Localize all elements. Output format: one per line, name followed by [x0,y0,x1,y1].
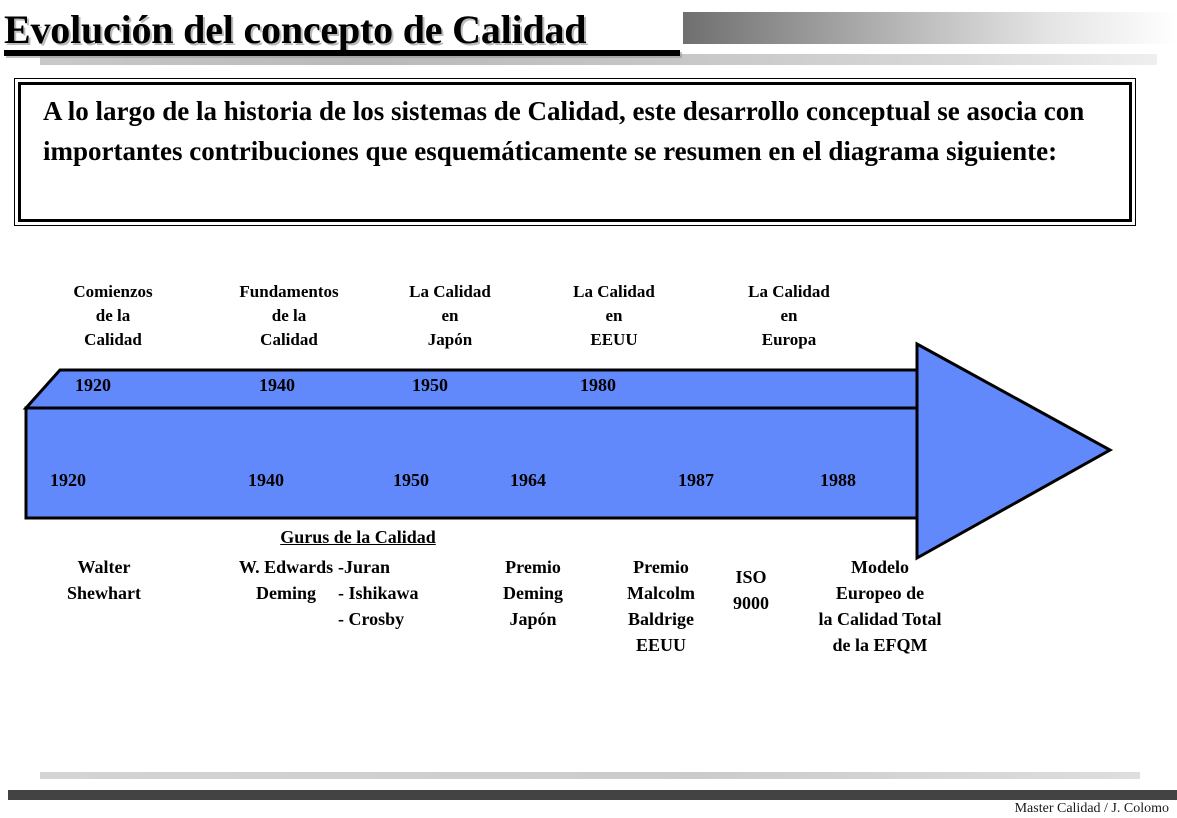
footer-gradient-rule [40,772,1140,779]
contribution-efqm: Modelo Europeo de la Calidad Total de la… [780,554,980,658]
quality-evolution-diagram: Comienzos de la Calidad Fundamentos de l… [0,262,1177,682]
year-top-1940: 1940 [259,375,295,395]
year-top-1950: 1950 [412,375,448,395]
title-underline-rule [4,50,680,56]
contribution-baldrige: Premio Malcolm Baldrige EEUU [598,554,724,658]
page-title: Evolución del concepto de Calidad [4,8,586,52]
year-bottom-1920: 1920 [50,470,86,490]
year-bottom-1988: 1988 [820,470,856,490]
body-paragraph: A lo largo de la historia de los sistema… [43,91,1119,171]
footer-bar [8,790,1177,800]
arrow-upper-band [26,370,918,408]
footer-credit: Master Calidad / J. Colomo [1015,800,1169,818]
arrow-head [917,344,1110,558]
year-top-1980: 1980 [580,375,616,395]
year-bottom-1950: 1950 [393,470,429,490]
title-gradient-bar [683,12,1177,44]
year-bottom-1940: 1940 [248,470,284,490]
gurus-heading: Gurus de la Calidad [243,527,473,548]
year-top-1920: 1920 [75,375,111,395]
body-text-box: A lo largo de la historia de los sistema… [14,78,1136,226]
contribution-shewhart: Walter Shewhart [34,554,174,606]
contribution-premio-deming: Premio Deming Japón [470,554,596,632]
contribution-iso-9000: ISO 9000 [722,564,780,616]
year-bottom-1987: 1987 [678,470,714,490]
year-bottom-1964: 1964 [510,470,546,490]
contribution-gurus-list: -Juran - Ishikawa - Crosby [338,554,468,632]
arrow-lower-band [26,408,918,518]
